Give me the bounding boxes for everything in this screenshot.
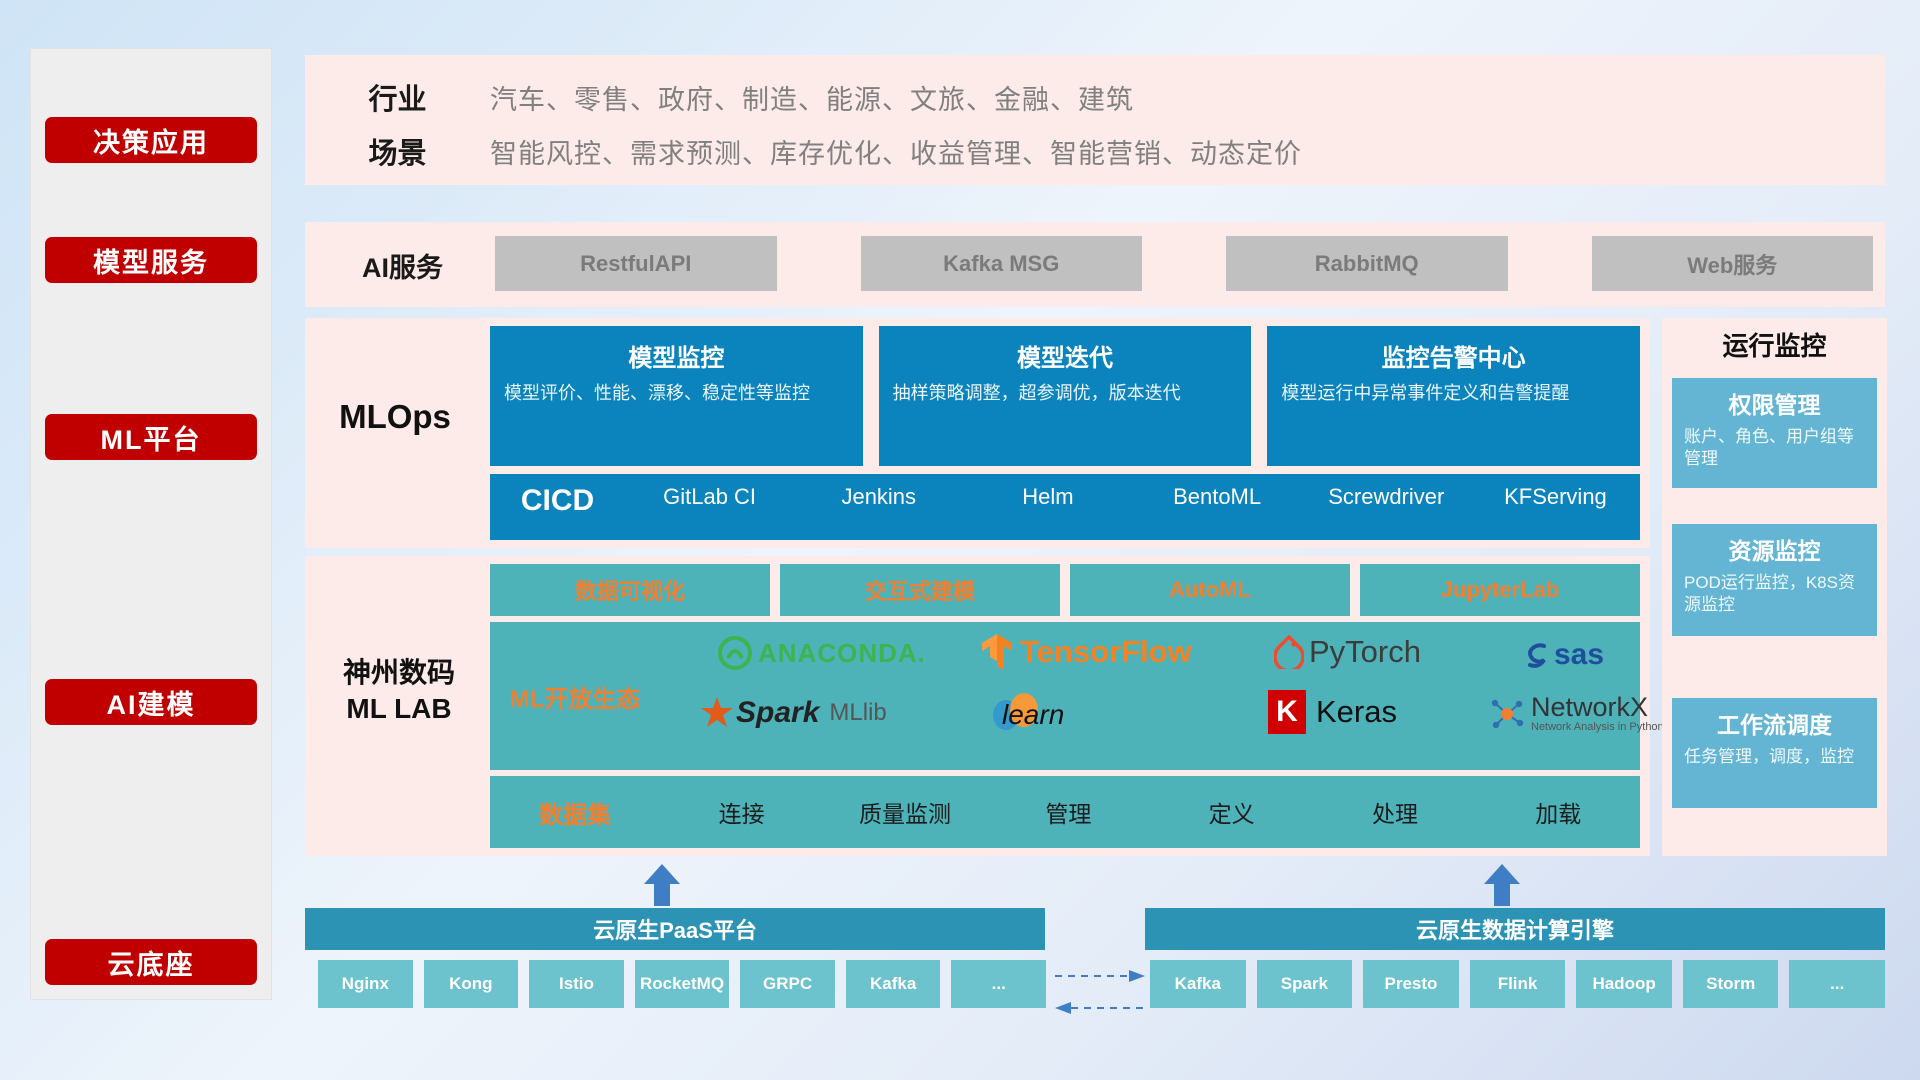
mlops-card-desc: 抽样策略调整，超参调优，版本迭代: [893, 381, 1238, 405]
ml-lab-key-line2: ML LAB: [305, 691, 493, 727]
cicd-item-bentoml[interactable]: BentoML: [1133, 484, 1302, 509]
cicd-item-gitlab-ci[interactable]: GitLab CI: [625, 484, 794, 509]
ml-ecosystem-key: ML开放生态: [490, 679, 660, 714]
spark-mllib-logo: Spark MLlib: [700, 696, 887, 730]
industry-row: 行业 汽车、零售、政府、制造、能源、文旅、金融、建筑: [305, 71, 1134, 123]
ml-lab-tab-automl[interactable]: AutoML: [1070, 564, 1350, 616]
ai-service-chip-restfulapi[interactable]: RestfulAPI: [495, 236, 777, 291]
mllib-logo-text: MLlib: [829, 699, 886, 727]
up-arrow-data-engine: [1480, 862, 1524, 902]
cloud-chip-grpc[interactable]: GRPC: [740, 960, 835, 1008]
cloud-chip-presto[interactable]: Presto: [1363, 960, 1459, 1008]
dashed-arrow-left: [1055, 1000, 1145, 1021]
cloud-chip-more-right[interactable]: ...: [1789, 960, 1885, 1008]
sas-logo: sas: [1522, 638, 1604, 672]
layer-label-cloud-base: 云底座: [45, 939, 257, 985]
layer-label-text: 模型服务: [93, 241, 209, 280]
industry-value: 汽车、零售、政府、制造、能源、文旅、金融、建筑: [490, 78, 1134, 117]
cloud-chip-flink[interactable]: Flink: [1470, 960, 1566, 1008]
dataset-item-connect[interactable]: 连接: [660, 795, 823, 829]
cicd-title: CICD: [490, 484, 625, 518]
keras-logo-text: Keras: [1316, 694, 1397, 730]
dataset-item-load[interactable]: 加载: [1477, 795, 1640, 829]
layer-label-text: ML平台: [101, 418, 202, 457]
networkx-logo: NetworkX Network Analysis in Python: [1490, 694, 1664, 733]
anaconda-logo: ANACONDA.: [718, 636, 926, 670]
application-band: 行业 汽车、零售、政府、制造、能源、文旅、金融、建筑 场景 智能风控、需求预测、…: [305, 55, 1885, 185]
cloud-chip-istio[interactable]: Istio: [529, 960, 624, 1008]
cloud-chip-rocketmq[interactable]: RocketMQ: [635, 960, 730, 1008]
ai-service-chip-rabbitmq[interactable]: RabbitMQ: [1226, 236, 1508, 291]
up-arrow-paas: [640, 862, 684, 902]
sas-logo-text: sas: [1554, 638, 1604, 672]
monitoring-card-workflow[interactable]: 工作流调度 任务管理，调度，监控: [1672, 698, 1877, 808]
layer-label-decision: 决策应用: [45, 117, 257, 163]
pytorch-logo-text: PyTorch: [1309, 634, 1421, 670]
layer-label-ml-platform: ML平台: [45, 414, 257, 460]
tensorflow-logo: TensorFlow: [980, 632, 1192, 672]
networkx-logo-subtext: Network Analysis in Python: [1531, 721, 1664, 733]
cloud-chip-storm[interactable]: Storm: [1683, 960, 1779, 1008]
ml-lab-tab-list: 数据可视化 交互式建模 AutoML JupyterLab: [490, 564, 1640, 616]
ai-service-band: AI服务 RestfulAPI Kafka MSG RabbitMQ Web服务: [305, 222, 1885, 307]
layer-label-ai-modeling: AI建模: [45, 679, 257, 725]
scikit-learn-logo-text: learn: [1002, 699, 1064, 731]
mlops-card-title: 模型监控: [504, 338, 849, 373]
cloud-chip-hadoop[interactable]: Hadoop: [1576, 960, 1672, 1008]
cloud-chip-more-left[interactable]: ...: [951, 960, 1046, 1008]
cloud-data-engine-chip-row: Kafka Spark Presto Flink Hadoop Storm ..…: [1150, 960, 1885, 1008]
keras-mark: K: [1268, 690, 1306, 734]
monitoring-card-desc: 账户、角色、用户组等管理: [1684, 426, 1865, 471]
layer-label-text: 云底座: [108, 943, 195, 982]
layer-label-model-service: 模型服务: [45, 237, 257, 283]
mlops-card-desc: 模型运行中异常事件定义和告警提醒: [1281, 381, 1626, 405]
scenario-row: 场景 智能风控、需求预测、库存优化、收益管理、智能营销、动态定价: [305, 125, 1302, 177]
dataset-row: 数据集 连接 质量监测 管理 定义 处理 加载: [490, 776, 1640, 848]
ml-lab-key: 神州数码 ML LAB: [305, 655, 493, 728]
monitoring-card-permission[interactable]: 权限管理 账户、角色、用户组等管理: [1672, 378, 1877, 488]
layer-label-text: AI建模: [107, 683, 196, 722]
cloud-paas-bar: 云原生PaaS平台: [305, 908, 1045, 950]
ai-service-chip-web[interactable]: Web服务: [1592, 236, 1874, 291]
mlops-card-desc: 模型评价、性能、漂移、稳定性等监控: [504, 381, 849, 405]
layer-label-text: 决策应用: [93, 121, 209, 160]
dataset-item-manage[interactable]: 管理: [987, 795, 1150, 829]
cloud-chip-kafka-right[interactable]: Kafka: [1150, 960, 1246, 1008]
mlops-card-title: 模型迭代: [893, 338, 1238, 373]
scenario-value: 智能风控、需求预测、库存优化、收益管理、智能营销、动态定价: [490, 132, 1302, 171]
keras-logo: K Keras: [1268, 690, 1397, 734]
anaconda-logo-text: ANACONDA.: [758, 638, 926, 669]
mlops-key: MLOps: [305, 398, 485, 436]
cloud-data-engine-bar: 云原生数据计算引擎: [1145, 908, 1885, 950]
monitoring-card-title: 资源监控: [1684, 532, 1865, 566]
ai-service-list: RestfulAPI Kafka MSG RabbitMQ Web服务: [495, 236, 1873, 291]
monitoring-card-desc: POD运行监控，K8S资源监控: [1684, 572, 1865, 617]
cicd-item-jenkins[interactable]: Jenkins: [794, 484, 963, 509]
architecture-diagram: 决策应用 模型服务 ML平台 AI建模 云底座 行业 汽车、零售、政府、制造、能…: [0, 0, 1920, 1080]
ml-ecosystem-logos: ANACONDA. TensorFlow PyTorch: [660, 622, 1640, 770]
tensorflow-logo-text: TensorFlow: [1020, 634, 1192, 670]
monitoring-card-title: 权限管理: [1684, 386, 1865, 420]
dataset-key: 数据集: [490, 795, 660, 830]
scikit-learn-logo: learn: [990, 688, 1064, 736]
monitoring-card-title: 工作流调度: [1684, 706, 1865, 740]
ml-lab-key-line1: 神州数码: [305, 655, 493, 691]
ai-service-key: AI服务: [315, 246, 490, 285]
ml-lab-tab-data-visualization[interactable]: 数据可视化: [490, 564, 770, 616]
monitoring-card-resource[interactable]: 资源监控 POD运行监控，K8S资源监控: [1672, 524, 1877, 636]
cicd-item-kfserving[interactable]: KFServing: [1471, 484, 1640, 509]
mlops-card-model-monitoring[interactable]: 模型监控 模型评价、性能、漂移、稳定性等监控: [490, 326, 863, 466]
mlops-card-title: 监控告警中心: [1281, 338, 1626, 373]
cloud-paas-chip-row: Nginx Kong Istio RocketMQ GRPC Kafka ...: [318, 960, 1046, 1008]
ml-lab-tab-jupyterlab[interactable]: JupyterLab: [1360, 564, 1640, 616]
industry-key: 行业: [305, 76, 490, 118]
spark-star-icon: [700, 696, 734, 730]
pytorch-icon: [1274, 635, 1304, 669]
dataset-item-define[interactable]: 定义: [1150, 795, 1313, 829]
monitoring-title: 运行监控: [1662, 326, 1887, 363]
dashed-arrow-right: [1055, 968, 1145, 989]
cloud-chip-nginx[interactable]: Nginx: [318, 960, 413, 1008]
ml-ecosystem-row: ML开放生态 ANACONDA. TensorFlow: [490, 622, 1640, 770]
ai-service-chip-kafka-msg[interactable]: Kafka MSG: [861, 236, 1143, 291]
cicd-item-screwdriver[interactable]: Screwdriver: [1302, 484, 1471, 509]
dataset-item-process[interactable]: 处理: [1313, 795, 1476, 829]
dataset-item-quality[interactable]: 质量监测: [823, 795, 986, 829]
mlops-card-list: 模型监控 模型评价、性能、漂移、稳定性等监控 模型迭代 抽样策略调整，超参调优，…: [490, 326, 1640, 466]
spark-logo-text: Spark: [736, 696, 819, 730]
networkx-icon: [1490, 697, 1524, 731]
sas-icon: [1522, 640, 1552, 670]
cloud-chip-kong[interactable]: Kong: [424, 960, 519, 1008]
mlops-card-alert-center[interactable]: 监控告警中心 模型运行中异常事件定义和告警提醒: [1267, 326, 1640, 466]
cicd-item-helm[interactable]: Helm: [963, 484, 1132, 509]
tensorflow-icon: [980, 632, 1014, 672]
cloud-chip-spark[interactable]: Spark: [1257, 960, 1353, 1008]
pytorch-logo: PyTorch: [1274, 634, 1421, 670]
cicd-strip: CICD GitLab CI Jenkins Helm BentoML Scre…: [490, 474, 1640, 540]
anaconda-icon: [718, 636, 752, 670]
monitoring-card-desc: 任务管理，调度，监控: [1684, 746, 1865, 768]
ml-lab-tab-interactive-modeling[interactable]: 交互式建模: [780, 564, 1060, 616]
mlops-card-model-iteration[interactable]: 模型迭代 抽样策略调整，超参调优，版本迭代: [879, 326, 1252, 466]
cloud-chip-kafka[interactable]: Kafka: [846, 960, 941, 1008]
layer-label-column: 决策应用 模型服务 ML平台 AI建模 云底座: [30, 48, 272, 1000]
scenario-key: 场景: [305, 130, 490, 172]
networkx-logo-text: NetworkX: [1531, 694, 1664, 721]
